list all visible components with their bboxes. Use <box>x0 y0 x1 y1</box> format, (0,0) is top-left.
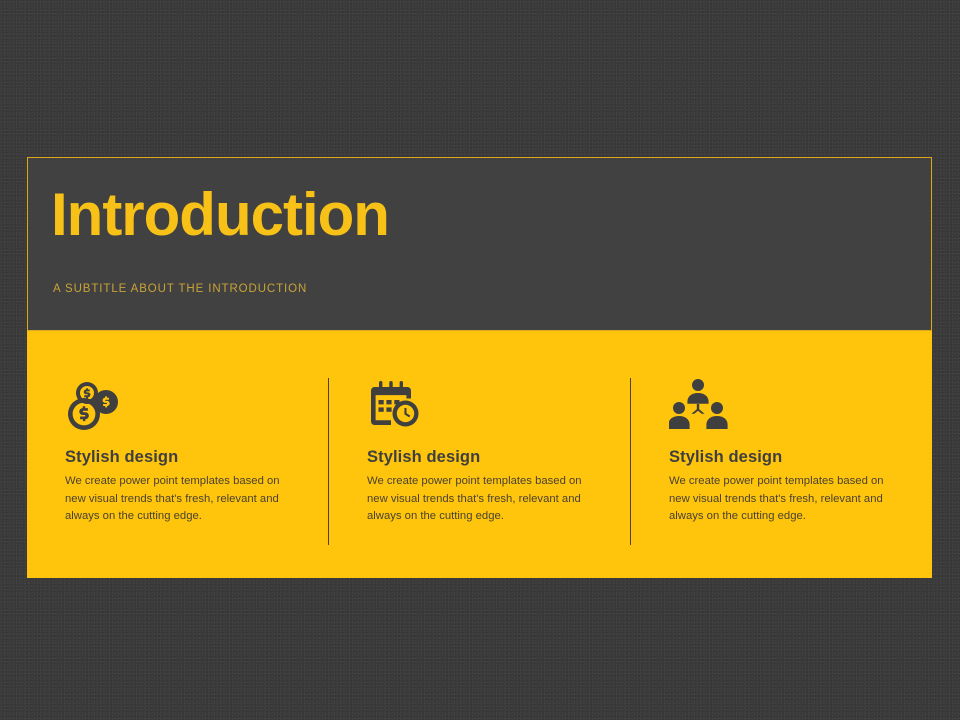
feature-title: Stylish design <box>367 448 596 467</box>
feature-body: We create power point templates based on… <box>367 473 596 526</box>
page-title: Introduction <box>51 185 389 245</box>
feature-body: We create power point templates based on… <box>65 473 294 526</box>
feature-title: Stylish design <box>669 448 898 467</box>
features-band: Stylish design We create power point tem… <box>27 331 932 578</box>
page-subtitle: A SUBTITLE ABOUT THE INTRODUCTION <box>53 283 307 295</box>
feature-body: We create power point templates based on… <box>669 473 898 526</box>
feature-column-2: Stylish design We create power point tem… <box>328 378 630 545</box>
coins-icon <box>65 378 294 434</box>
header-panel: Introduction A SUBTITLE ABOUT THE INTROD… <box>27 157 932 331</box>
calendar-clock-icon <box>367 378 596 434</box>
feature-column-1: Stylish design We create power point tem… <box>27 331 328 578</box>
team-hierarchy-icon <box>669 378 898 434</box>
features-columns: Stylish design We create power point tem… <box>27 331 932 578</box>
feature-column-3: Stylish design We create power point tem… <box>630 378 932 545</box>
feature-title: Stylish design <box>65 448 294 467</box>
